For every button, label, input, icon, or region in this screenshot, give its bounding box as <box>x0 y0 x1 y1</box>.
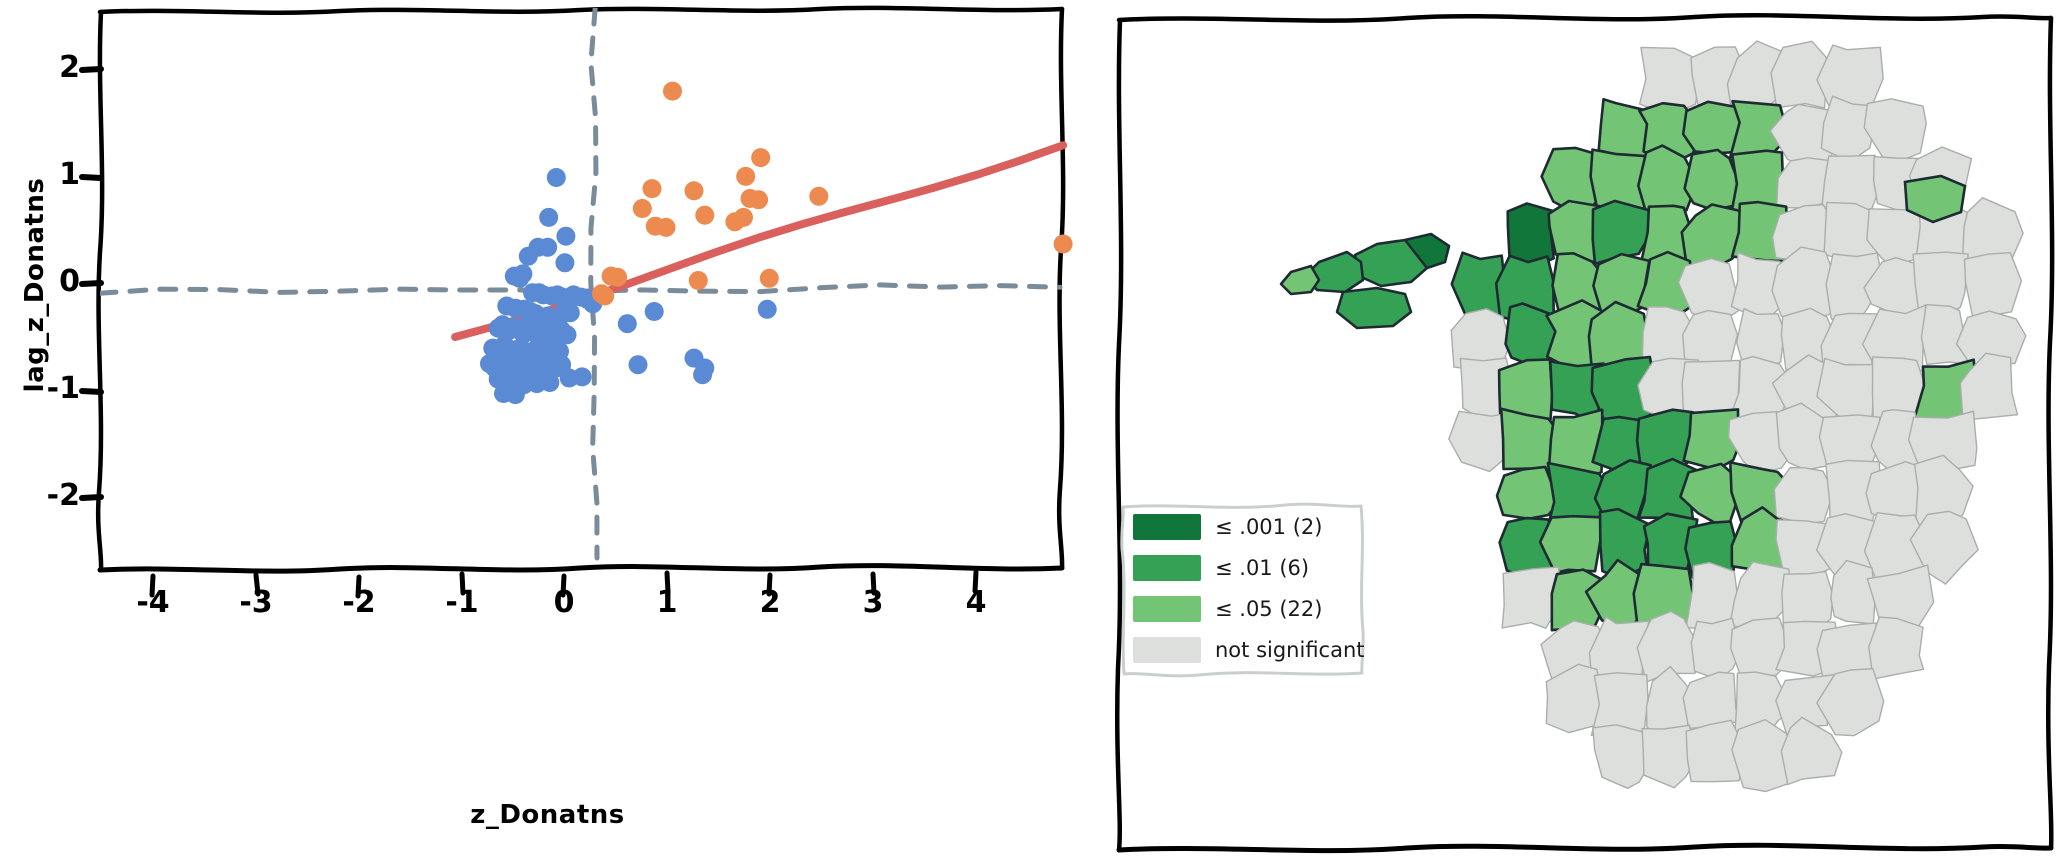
legend-swatch-ns <box>1133 637 1201 663</box>
map-department <box>1337 288 1411 328</box>
scatter-point <box>572 288 591 307</box>
scatter-point <box>685 181 704 200</box>
legend-swatch-p05 <box>1133 596 1201 622</box>
scatter-point <box>555 253 574 272</box>
scatter-point <box>608 268 627 287</box>
xtick-label: -1 <box>432 585 492 620</box>
legend-label-p05: ≤ .05 (22) <box>1215 597 1322 621</box>
scatter-point <box>809 187 828 206</box>
legend-item-p05: ≤ .05 (22) <box>1133 591 1351 627</box>
scatter-point <box>510 269 529 288</box>
xtick-label: -2 <box>329 585 389 620</box>
legend-swatch-p01 <box>1133 555 1201 581</box>
scatter-point <box>573 367 592 386</box>
scatter-point <box>629 355 648 374</box>
scatter-point <box>734 208 753 227</box>
scatter-point <box>539 208 558 227</box>
legend-item-p001: ≤ .001 (2) <box>1133 509 1351 545</box>
scatter-point <box>643 179 662 198</box>
xtick-label: 3 <box>843 585 903 620</box>
xtick-label: -3 <box>226 585 286 620</box>
map-department <box>1685 150 1738 210</box>
ytick-label: -2 <box>10 478 80 513</box>
map-department <box>1965 253 2022 317</box>
scatter-point <box>663 82 682 101</box>
scatter-point <box>540 373 559 392</box>
france-departements-map <box>1105 0 2065 864</box>
legend-item-p01: ≤ .01 (6) <box>1133 550 1351 586</box>
map-department <box>1774 468 1833 524</box>
xtick-label: -4 <box>123 585 183 620</box>
scatter-point <box>689 271 708 290</box>
xtick-label: 4 <box>946 585 1006 620</box>
scatter-point <box>506 385 525 404</box>
xtick-label: 2 <box>740 585 800 620</box>
legend-item-ns: not significant <box>1133 632 1351 668</box>
scatter-point <box>633 199 652 218</box>
map-department <box>1864 99 1926 161</box>
scatter-point <box>758 300 777 319</box>
scatter-point <box>558 325 577 344</box>
xtick-label: 1 <box>637 585 697 620</box>
scatter-points <box>480 82 1073 405</box>
scatter-point <box>695 206 714 225</box>
moran-scatterplot-panel: 2 1 0 -1 -2 -4 -3 -2 -1 0 1 2 3 4 z_Dona… <box>0 0 1095 864</box>
scatter-point <box>618 314 637 333</box>
scatter-point <box>751 148 770 167</box>
legend-label-p01: ≤ .01 (6) <box>1215 556 1309 580</box>
scatter-point <box>595 287 614 306</box>
map-department <box>1869 617 1924 679</box>
scatter-point <box>1054 235 1073 254</box>
scatter-point <box>561 303 580 322</box>
scatter-point <box>547 168 566 187</box>
scatter-plot-area <box>100 8 1090 573</box>
map-department <box>1683 672 1740 728</box>
xtick-label: 0 <box>534 585 594 620</box>
map-regions-group <box>1281 41 2026 792</box>
scatter-point <box>736 167 755 186</box>
scatter-point <box>749 190 768 209</box>
reference-lines <box>100 8 1060 558</box>
legend-swatch-p001 <box>1133 514 1201 540</box>
map-legend: ≤ .001 (2) ≤ .01 (6) ≤ .05 (22) not sign… <box>1117 497 1365 677</box>
scatter-point <box>645 302 664 321</box>
scatter-canvas <box>100 8 1090 573</box>
scatter-point <box>646 217 665 236</box>
legend-label-p001: ≤ .001 (2) <box>1215 515 1322 539</box>
map-department <box>1281 266 1319 294</box>
scatter-point <box>538 238 557 257</box>
y-axis-title: lag_z_Donatns <box>20 120 50 450</box>
lisa-cluster-map-panel: ≤ .001 (2) ≤ .01 (6) ≤ .05 (22) not sign… <box>1105 0 2065 864</box>
ytick-label: 2 <box>10 50 80 85</box>
scatter-point <box>693 365 712 384</box>
x-axis-title: z_Donatns <box>0 800 1095 830</box>
legend-label-ns: not significant <box>1215 638 1365 662</box>
scatter-point <box>556 227 575 246</box>
scatter-point <box>760 269 779 288</box>
scatter-point <box>519 247 538 266</box>
map-department <box>1540 516 1605 573</box>
figure-root: 2 1 0 -1 -2 -4 -3 -2 -1 0 1 2 3 4 z_Dona… <box>0 0 2065 864</box>
